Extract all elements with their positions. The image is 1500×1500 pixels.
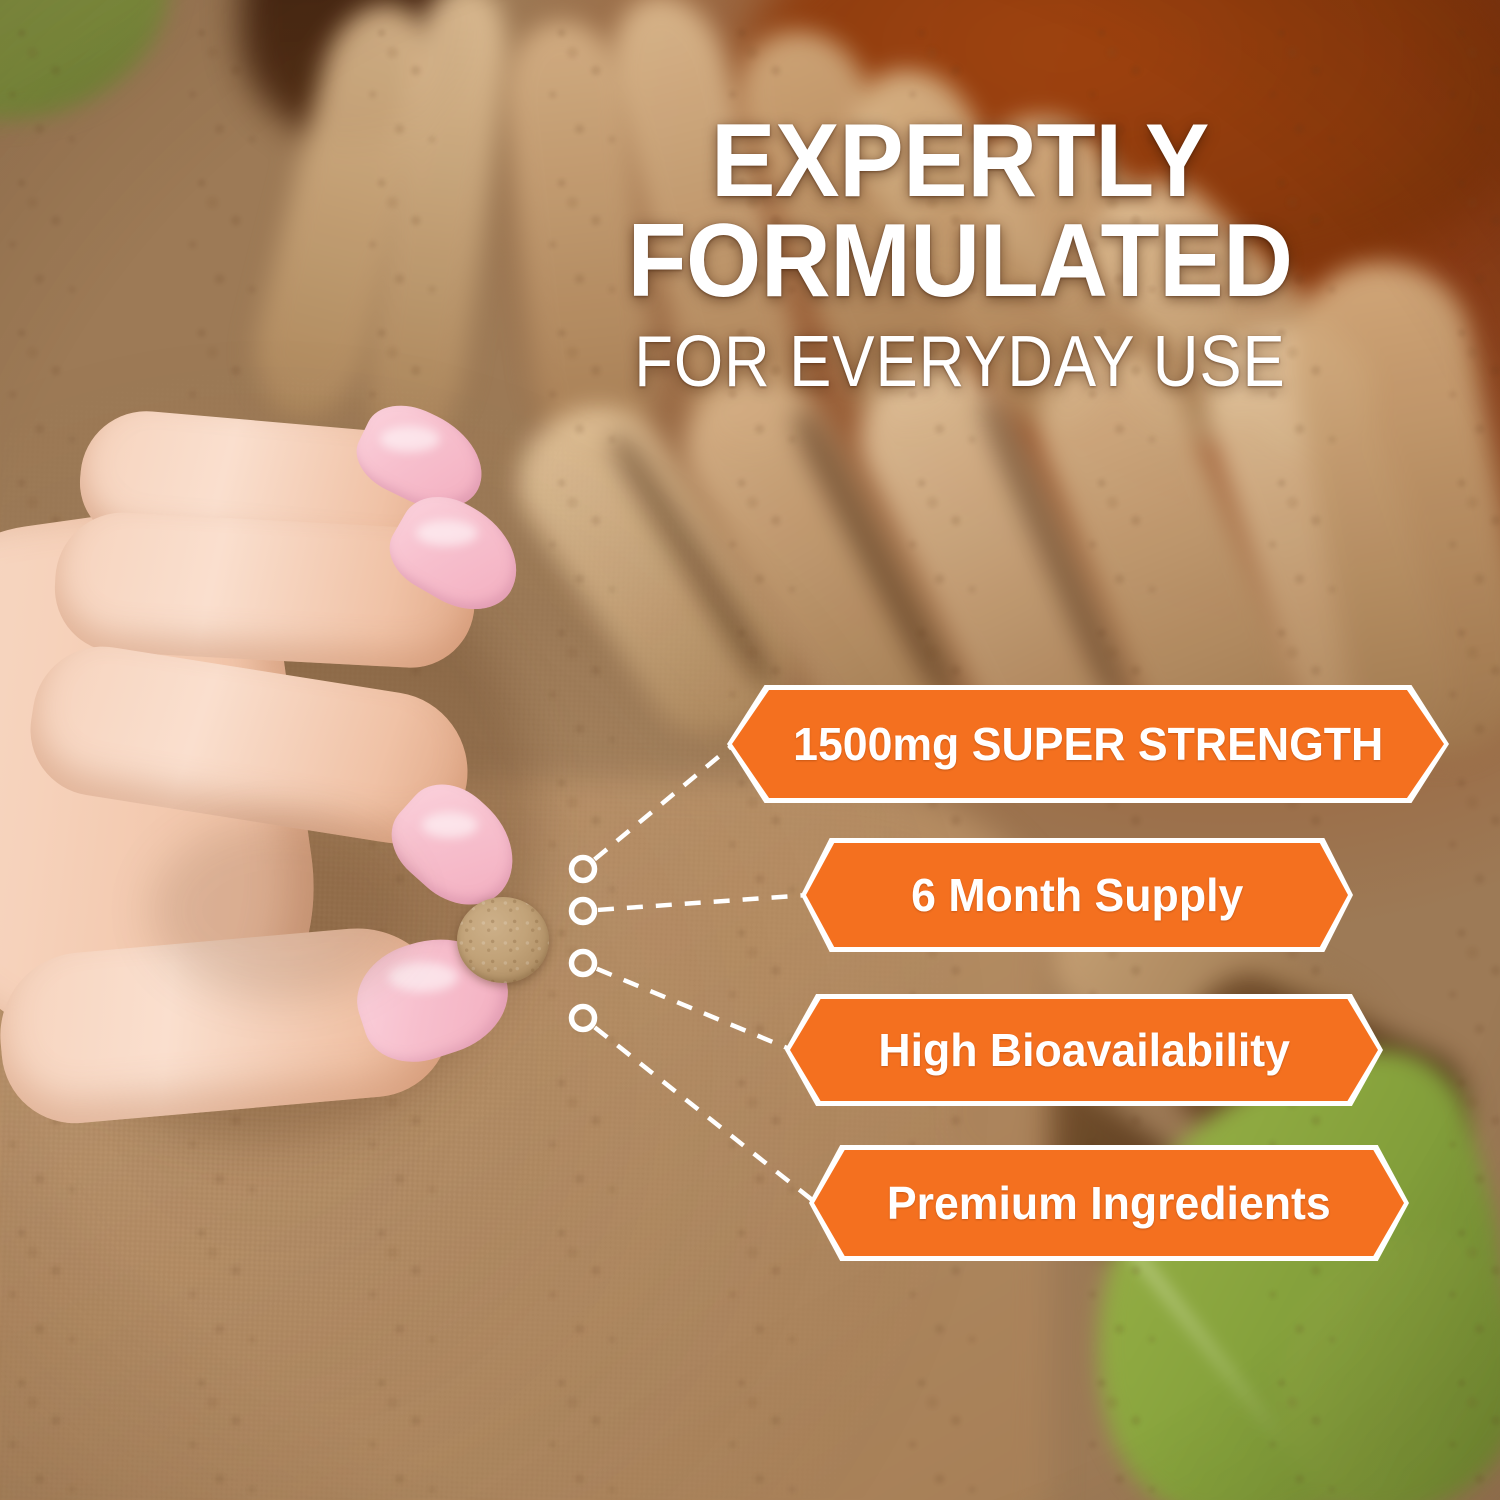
connector-3-line [597, 969, 792, 1050]
product-marketing-image: EXPERTLY FORMULATED FOR EVERYDAY USE 150… [0, 0, 1500, 1500]
feature-badge-bioavailability[interactable]: High Bioavailability [785, 994, 1383, 1106]
feature-badge-label: Premium Ingredients [887, 1176, 1331, 1230]
feature-badge-fill: High Bioavailability [790, 999, 1378, 1101]
connector-1-line [595, 744, 734, 859]
connector-4-dot [572, 1007, 595, 1030]
feature-badge-fill: 1500mg SUPER STRENGTH [732, 690, 1444, 798]
feature-badge-fill: Premium Ingredients [814, 1150, 1404, 1256]
feature-badge-label: High Bioavailability [878, 1023, 1290, 1077]
feature-badge-super-strength[interactable]: 1500mg SUPER STRENGTH [727, 685, 1449, 803]
connector-2-dot [572, 900, 595, 923]
feature-badge-label: 6 Month Supply [911, 868, 1243, 922]
feature-badge-label: 1500mg SUPER STRENGTH [793, 717, 1383, 771]
feature-badge-fill: 6 Month Supply [806, 843, 1348, 947]
connector-2-line [598, 895, 808, 910]
feature-badge-supply[interactable]: 6 Month Supply [801, 838, 1353, 952]
connector-1-dot [572, 858, 595, 881]
connector-3-dot [572, 952, 595, 975]
connector-4-line [595, 1027, 816, 1203]
feature-badge-premium-ingredients[interactable]: Premium Ingredients [809, 1145, 1409, 1261]
